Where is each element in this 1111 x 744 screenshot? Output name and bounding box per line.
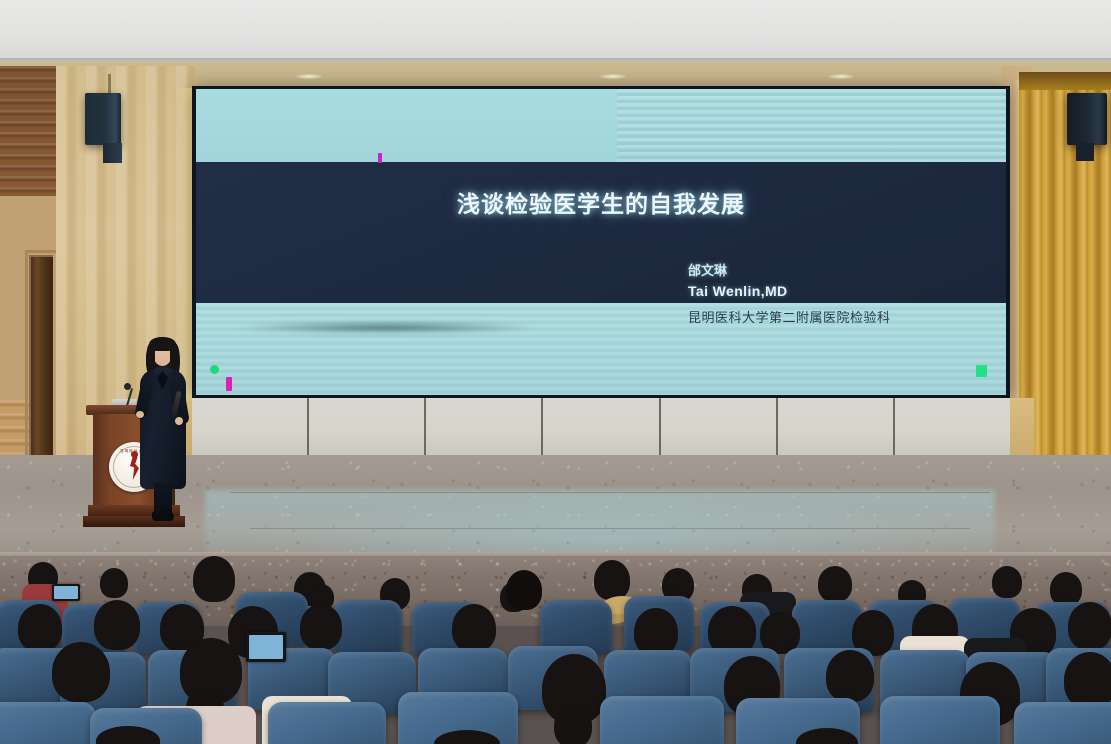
auditorium-photo: 浅谈检验医学生的自我发展 邰文琳 Tai Wenlin,MD 昆明医科大学第二附… <box>0 0 1111 744</box>
floor-seam <box>230 492 990 493</box>
presenter-hand-right <box>175 417 183 425</box>
scanline-overlay <box>617 89 1006 162</box>
audience-head <box>992 566 1022 598</box>
speaker-bracket-left <box>103 143 122 163</box>
speaker-icon-left <box>85 93 121 145</box>
phone-screen <box>249 635 283 659</box>
audience-head <box>826 650 874 702</box>
auditorium-seat[interactable] <box>600 696 724 744</box>
audience-head <box>52 642 110 702</box>
audience-head <box>594 560 630 600</box>
stage-side-panel-right <box>1008 398 1034 460</box>
audience-head <box>100 568 128 598</box>
audience-hair-tail <box>554 706 592 744</box>
audience-head <box>506 570 542 610</box>
audience-head <box>452 604 496 652</box>
audience-area <box>0 556 1111 744</box>
presenter <box>138 333 190 523</box>
audience-head <box>18 604 62 652</box>
slide-top-cyan-band <box>196 89 1006 162</box>
presenter-name-en: Tai Wenlin,MD <box>688 281 788 301</box>
ceiling <box>0 0 1111 66</box>
slide-presenter-block: 邰文琳 Tai Wenlin,MD <box>688 262 788 301</box>
audience-head <box>1050 572 1082 606</box>
phone-icon <box>246 632 286 662</box>
slide-affiliation: 昆明医科大学第二附属医院检验科 <box>688 307 891 326</box>
audience-head <box>818 566 852 602</box>
audience-head <box>300 604 342 650</box>
screen-reflection-on-floor <box>205 490 995 558</box>
stage-panel <box>426 398 543 460</box>
floor-seam <box>250 528 970 529</box>
phone-screen <box>54 586 78 599</box>
slide-dark-band <box>196 162 1006 303</box>
speaker-bracket-right <box>1076 143 1094 161</box>
auditorium-seat[interactable] <box>880 696 1000 744</box>
stage-panel <box>543 398 660 460</box>
presenter-hand-left <box>136 411 144 418</box>
screen-smudge <box>236 321 536 334</box>
curtain-rail <box>1019 72 1111 90</box>
presenter-name-cn: 邰文琳 <box>688 262 788 281</box>
stage-panel <box>661 398 778 460</box>
pixel-artifact-green <box>976 365 987 377</box>
stage-panel <box>309 398 426 460</box>
audience-head <box>1068 602 1111 650</box>
stage-panel <box>192 398 309 460</box>
stage-wall-panels <box>192 398 1010 460</box>
auditorium-seat[interactable] <box>1014 702 1111 744</box>
left-wood-upper-dark <box>0 66 62 196</box>
downlight-icon <box>600 74 626 79</box>
auditorium-seat[interactable] <box>792 600 862 652</box>
auditorium-seat[interactable] <box>0 702 96 744</box>
downlight-icon <box>296 74 322 79</box>
stage-panel <box>778 398 895 460</box>
pixel-artifact-magenta <box>226 377 232 391</box>
speaker-icon-right <box>1067 93 1107 145</box>
audience-head <box>634 608 678 656</box>
downlight-icon <box>828 74 854 79</box>
auditorium-seat[interactable] <box>268 702 386 744</box>
audience-head <box>1064 652 1111 708</box>
pixel-artifact-magenta <box>378 153 382 163</box>
led-screen[interactable]: 浅谈检验医学生的自我发展 邰文琳 Tai Wenlin,MD 昆明医科大学第二附… <box>196 89 1006 395</box>
pixel-artifact-green <box>210 365 219 374</box>
auditorium-seat[interactable] <box>332 600 402 652</box>
audience-head <box>193 556 235 602</box>
phone-icon <box>52 584 80 601</box>
stage-panel <box>895 398 1010 460</box>
audience-head <box>94 600 140 650</box>
presenter-boots <box>152 511 174 521</box>
slide-title: 浅谈检验医学生的自我发展 <box>196 185 1006 219</box>
